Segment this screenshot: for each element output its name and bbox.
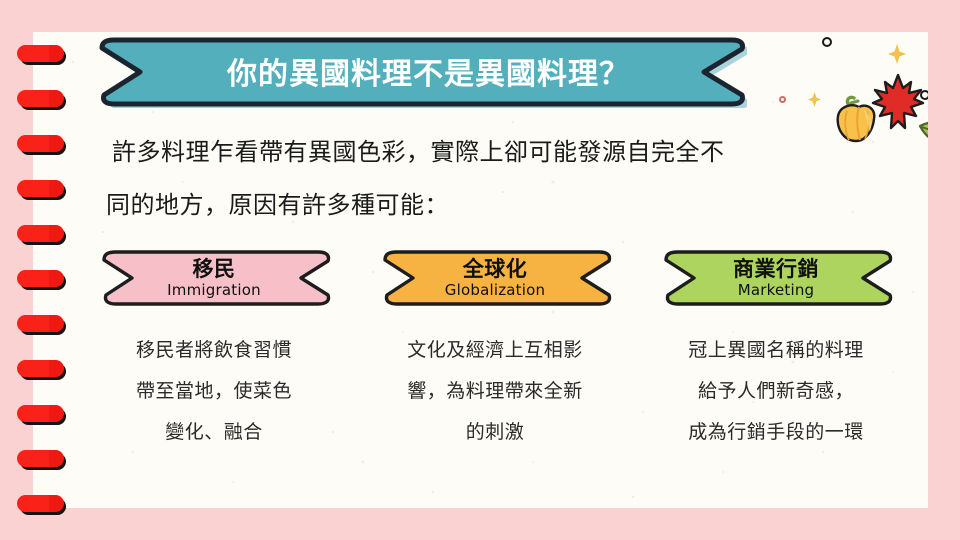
body-line: 響，為料理帶來全新 (371, 371, 619, 412)
category-title-zh: 商業行銷 (733, 258, 819, 281)
circle-outline-icon (822, 37, 832, 47)
slide-title: 你的異國料理不是異國料理？ (92, 34, 747, 108)
small-dot-icon (779, 96, 786, 103)
binding-ring (17, 360, 63, 377)
binding-ring (17, 315, 63, 332)
body-line: 給予人們新奇感， (652, 371, 900, 412)
binding-ring (17, 495, 63, 512)
category-title-zh: 移民 (193, 258, 236, 281)
category-body-globalization: 文化及經濟上互相影 響，為料理帶來全新 的刺激 (371, 330, 619, 453)
intro-paragraph: 許多料理乍看帶有異國色彩，實際上卻可能發源自完全不 同的地方，原因有許多種可能： (112, 126, 882, 232)
sparkle-icon (808, 92, 821, 107)
body-line: 的刺激 (371, 412, 619, 453)
category-banner-globalization[interactable]: 全球化 Globalization (377, 248, 613, 308)
circle-outline-icon (920, 90, 928, 100)
binding-ring (17, 270, 63, 287)
binding-ring (17, 450, 63, 467)
binding-ring (17, 405, 63, 422)
sparkle-icon (888, 44, 906, 64)
category-columns: 移民 Immigration 移民者將飲食習慣 帶至當地，使菜色 變化、融合 (90, 248, 900, 453)
binding-ring (17, 45, 63, 62)
binding-ring (17, 135, 63, 152)
slide-canvas: 你的異國料理不是異國料理？ 許多料理乍 (0, 0, 960, 540)
category-title-en: Globalization (445, 281, 545, 300)
binding-ring (17, 225, 63, 242)
category-title-en: Immigration (167, 281, 261, 300)
category-title-zh: 全球化 (463, 258, 528, 281)
category-column-immigration: 移民 Immigration 移民者將飲食習慣 帶至當地，使菜色 變化、融合 (90, 248, 338, 453)
category-body-marketing: 冠上異國名稱的料理 給予人們新奇感， 成為行銷手段的一環 (652, 330, 900, 453)
category-body-immigration: 移民者將飲食習慣 帶至當地，使菜色 變化、融合 (90, 330, 338, 453)
binding-ring (17, 180, 63, 197)
body-line: 成為行銷手段的一環 (652, 412, 900, 453)
body-line: 冠上異國名稱的料理 (652, 330, 900, 371)
body-line: 變化、融合 (90, 412, 338, 453)
body-line: 文化及經濟上互相影 (371, 330, 619, 371)
title-ribbon: 你的異國料理不是異國料理？ (92, 34, 747, 108)
paper-sheet: 你的異國料理不是異國料理？ 許多料理乍 (33, 32, 928, 508)
green-leaf-icon (916, 118, 928, 154)
category-column-marketing: 商業行銷 Marketing 冠上異國名稱的料理 給予人們新奇感， 成為行銷手段… (652, 248, 900, 453)
intro-line: 同的地方，原因有許多種可能： (106, 179, 882, 232)
body-line: 帶至當地，使菜色 (90, 371, 338, 412)
binding-ring (17, 90, 63, 107)
body-line: 移民者將飲食習慣 (90, 330, 338, 371)
category-banner-immigration[interactable]: 移民 Immigration (96, 248, 332, 308)
intro-line: 許多料理乍看帶有異國色彩，實際上卻可能發源自完全不 (112, 126, 882, 179)
category-title-en: Marketing (738, 281, 815, 300)
category-banner-marketing[interactable]: 商業行銷 Marketing (658, 248, 894, 308)
category-column-globalization: 全球化 Globalization 文化及經濟上互相影 響，為料理帶來全新 的刺… (371, 248, 619, 453)
